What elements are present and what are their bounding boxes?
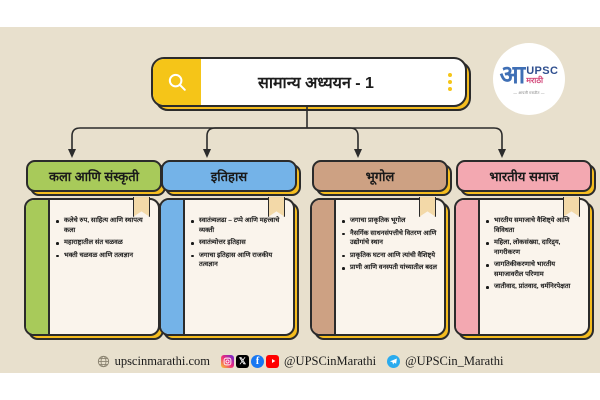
list-item: महाराष्ट्रातील संत चळवळ bbox=[55, 238, 153, 248]
list-item: स्वातंत्र्यलढा – टप्पे आणि महत्त्वाचे व्… bbox=[190, 216, 288, 235]
page-title: सामान्य अध्ययन - 1 bbox=[201, 71, 435, 93]
list-item: महिला, लोकसंख्या, दारिद्र्य, नागरीकरण bbox=[485, 238, 583, 257]
list-item: प्राणी आणि वनस्पती यांच्यातील बदल bbox=[341, 263, 439, 273]
category-card-kala-ani-sanskruti: कलेचे रुप, साहित्य आणि स्थापत्य कला महार… bbox=[24, 198, 164, 336]
facebook-icon[interactable]: f bbox=[251, 355, 264, 368]
category-header-label: भारतीय समाज bbox=[456, 160, 592, 192]
category-header-itihas[interactable]: इतिहास bbox=[161, 160, 297, 190]
search-icon[interactable] bbox=[153, 59, 201, 105]
telegram-handle-text: @UPSCin_Marathi bbox=[405, 354, 503, 369]
bullet-list: स्वातंत्र्यलढा – टप्पे आणि महत्त्वाचे व्… bbox=[185, 200, 293, 334]
category-header-bhugol[interactable]: भूगोल bbox=[312, 160, 448, 190]
logo-brand-text: UPSC bbox=[526, 66, 558, 77]
card-spine bbox=[161, 200, 185, 334]
card-body: भारतीय समाजाचे वैशिष्ट्ये आणि विविधता मह… bbox=[454, 198, 590, 336]
bullet-list: कलेचे रुप, साहित्य आणि स्थापत्य कला महार… bbox=[50, 200, 158, 334]
category-header-label: इतिहास bbox=[161, 160, 297, 192]
list-item: जगाचा इतिहास आणि राजकीय तत्वज्ञान bbox=[190, 251, 288, 270]
category-header-label: भूगोल bbox=[312, 160, 448, 192]
upsc-marathi-logo: आ UPSC मराठी — आपली मराठीत — bbox=[493, 43, 565, 115]
footer: upscinmarathi.com 𝕏 f @UPSCinMarathi bbox=[0, 349, 600, 373]
bullet-list: जगाचा प्राकृतिक भूगोल नैसर्गिक साधनसंपत्… bbox=[336, 200, 444, 334]
infographic-canvas: आ UPSC मराठी — आपली मराठीत — सामान्य अध्… bbox=[0, 0, 600, 400]
list-item: भक्ती चळवळ आणि तत्वज्ञान bbox=[55, 251, 153, 261]
logo-devanagari-glyph: आ bbox=[500, 63, 525, 88]
bullet-list: भारतीय समाजाचे वैशिष्ट्ये आणि विविधता मह… bbox=[480, 200, 588, 334]
website-link[interactable]: upscinmarathi.com bbox=[97, 354, 210, 369]
category-header-label: कला आणि संस्कृती bbox=[26, 160, 162, 192]
logo-sub-text: मराठी bbox=[526, 77, 558, 85]
list-item: भारतीय समाजाचे वैशिष्ट्ये आणि विविधता bbox=[485, 216, 583, 235]
list-item: नैसर्गिक साधनसंपत्तीचे वितरण आणि उद्योगा… bbox=[341, 229, 439, 248]
list-item: प्राकृतिक घटना आणि त्यांची वैशिष्ट्ये bbox=[341, 251, 439, 261]
logo-tagline: — आपली मराठीत — bbox=[513, 91, 544, 96]
globe-icon bbox=[97, 355, 110, 368]
card-body: स्वातंत्र्यलढा – टप्पे आणि महत्त्वाचे व्… bbox=[159, 198, 295, 336]
card-body: कलेचे रुप, साहित्य आणि स्थापत्य कला महार… bbox=[24, 198, 160, 336]
kebab-menu-icon[interactable] bbox=[435, 73, 465, 91]
card-body: जगाचा प्राकृतिक भूगोल नैसर्गिक साधनसंपत्… bbox=[310, 198, 446, 336]
website-text: upscinmarathi.com bbox=[115, 354, 210, 369]
list-item: कलेचे रुप, साहित्य आणि स्थापत्य कला bbox=[55, 216, 153, 235]
telegram-icon[interactable] bbox=[387, 355, 400, 368]
youtube-icon[interactable] bbox=[266, 355, 279, 368]
telegram-handle-group[interactable]: @UPSCin_Marathi bbox=[387, 354, 503, 369]
social-handle-text: @UPSCinMarathi bbox=[284, 354, 376, 369]
category-card-itihas: स्वातंत्र्यलढा – टप्पे आणि महत्त्वाचे व्… bbox=[159, 198, 299, 336]
social-icon-row: 𝕏 f bbox=[221, 355, 279, 368]
list-item: जागतिकीकरणाचे भारतीय समाजावरील परिणाम bbox=[485, 260, 583, 279]
card-spine bbox=[26, 200, 50, 334]
list-item: जातीवाद, प्रांतवाद, धर्मनिरपेक्षता bbox=[485, 282, 583, 292]
card-spine bbox=[312, 200, 336, 334]
instagram-icon[interactable] bbox=[221, 355, 234, 368]
card-spine bbox=[456, 200, 480, 334]
x-twitter-icon[interactable]: 𝕏 bbox=[236, 355, 249, 368]
category-card-bhugol: जगाचा प्राकृतिक भूगोल नैसर्गिक साधनसंपत्… bbox=[310, 198, 450, 336]
category-header-bharatiya-samaj[interactable]: भारतीय समाज bbox=[456, 160, 592, 190]
list-item: जगाचा प्राकृतिक भूगोल bbox=[341, 216, 439, 226]
category-card-bharatiya-samaj: भारतीय समाजाचे वैशिष्ट्ये आणि विविधता मह… bbox=[454, 198, 594, 336]
list-item: स्वातंत्र्योत्तर इतिहास bbox=[190, 238, 288, 248]
title-bar: सामान्य अध्ययन - 1 bbox=[151, 57, 467, 107]
category-header-kala-ani-sanskruti[interactable]: कला आणि संस्कृती bbox=[26, 160, 162, 190]
social-handle-group[interactable]: 𝕏 f @UPSCinMarathi bbox=[221, 354, 376, 369]
